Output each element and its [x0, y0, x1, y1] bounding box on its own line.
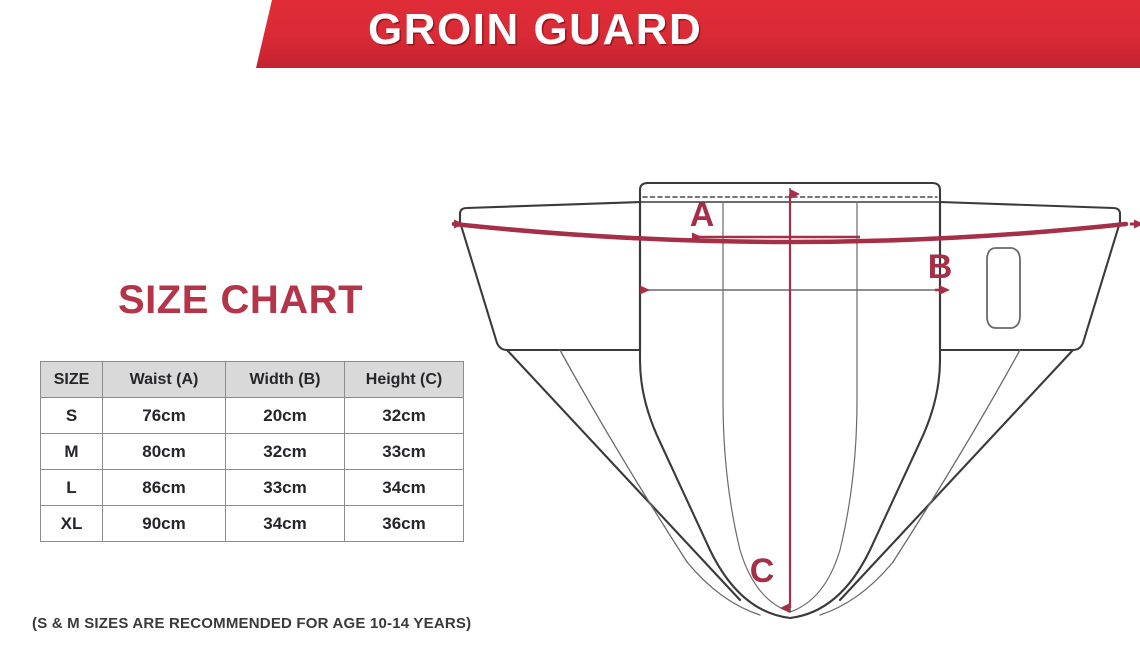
table-row: S 76cm 20cm 32cm — [41, 398, 464, 434]
cell-width: 34cm — [226, 506, 345, 542]
measure-a-waist: A — [454, 196, 1134, 242]
page-title: GROIN GUARD — [368, 4, 702, 56]
cell-waist: 90cm — [103, 506, 226, 542]
cell-size: L — [41, 470, 103, 506]
cell-size: XL — [41, 506, 103, 542]
size-recommendation-note: (S & M SIZES ARE RECOMMENDED FOR AGE 10-… — [32, 615, 471, 632]
table-row: L 86cm 33cm 34cm — [41, 470, 464, 506]
left-wing-panel — [460, 202, 640, 350]
header-banner: GROIN GUARD — [0, 0, 1140, 70]
size-chart-heading: SIZE CHART — [118, 278, 363, 323]
dimension-label-b: B — [928, 248, 953, 286]
cell-width: 20cm — [226, 398, 345, 434]
table-row: M 80cm 32cm 33cm — [41, 434, 464, 470]
table-row: XL 90cm 34cm 36cm — [41, 506, 464, 542]
column-header-width: Width (B) — [226, 362, 345, 398]
size-chart-table: SIZE Waist (A) Width (B) Height (C) S 76… — [40, 361, 464, 542]
right-leg-strap-inner — [893, 350, 1020, 562]
right-pouch-curve — [820, 562, 893, 615]
measure-c-height: C — [750, 194, 790, 608]
right-leg-strap-outer — [840, 350, 1073, 600]
column-header-size: SIZE — [41, 362, 103, 398]
cell-size: M — [41, 434, 103, 470]
left-leg-strap-inner — [560, 350, 687, 562]
cell-width: 33cm — [226, 470, 345, 506]
cell-waist: 86cm — [103, 470, 226, 506]
left-inner-seam — [723, 202, 790, 612]
left-leg-strap-outer — [507, 350, 740, 600]
groin-guard-diagram: A B C — [440, 150, 1140, 640]
dimension-label-a: A — [690, 196, 715, 234]
right-wing-panel — [940, 202, 1120, 350]
right-inner-seam — [790, 202, 857, 612]
measure-b-width: B — [640, 248, 952, 290]
cell-size: S — [41, 398, 103, 434]
cell-waist: 76cm — [103, 398, 226, 434]
cell-width: 32cm — [226, 434, 345, 470]
column-header-waist: Waist (A) — [103, 362, 226, 398]
cell-waist: 80cm — [103, 434, 226, 470]
dimension-label-c: C — [750, 552, 775, 590]
belt-loop — [987, 248, 1020, 328]
table-header-row: SIZE Waist (A) Width (B) Height (C) — [41, 362, 464, 398]
